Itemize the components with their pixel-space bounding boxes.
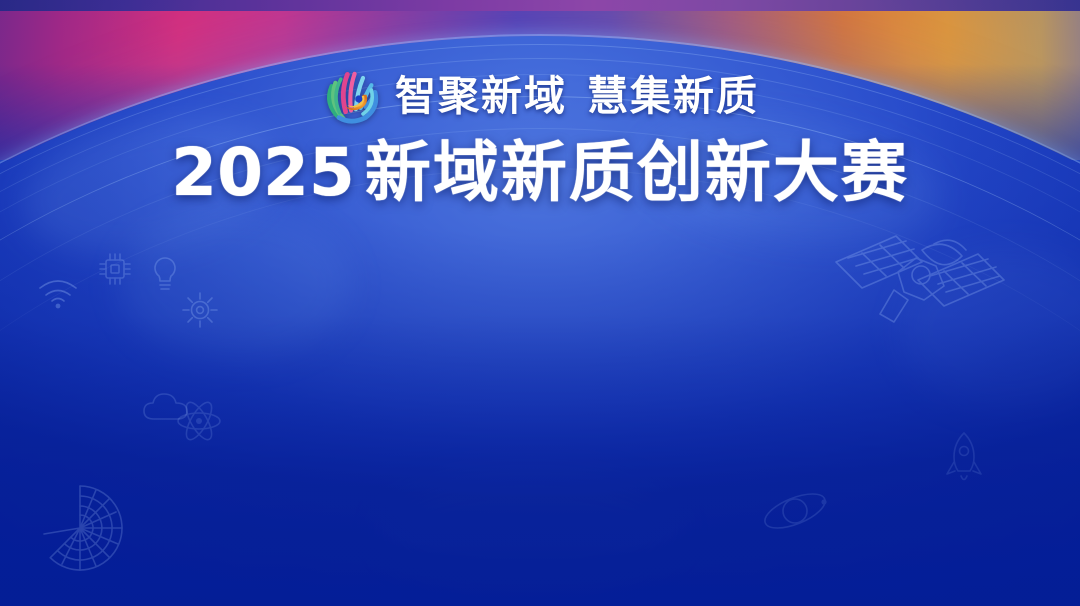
spiral-swirl-logo-icon	[321, 66, 381, 126]
slogan-row: 智聚新域慧集新质	[321, 66, 759, 126]
slogan-text: 智聚新域慧集新质	[395, 76, 759, 117]
slogan-left: 智聚新域	[395, 72, 567, 120]
conference-poster: 智聚新域慧集新质 2025新域新质创新大赛 主办单位：中国电子信息产业发展研究院…	[0, 0, 1080, 606]
poster-content: 智聚新域慧集新质 2025新域新质创新大赛	[0, 0, 1080, 606]
slogan-right: 慧集新质	[587, 72, 759, 120]
page-title: 2025新域新质创新大赛	[171, 138, 909, 208]
headline-text: 新域新质创新大赛	[365, 134, 909, 211]
headline-year: 2025	[171, 134, 355, 211]
